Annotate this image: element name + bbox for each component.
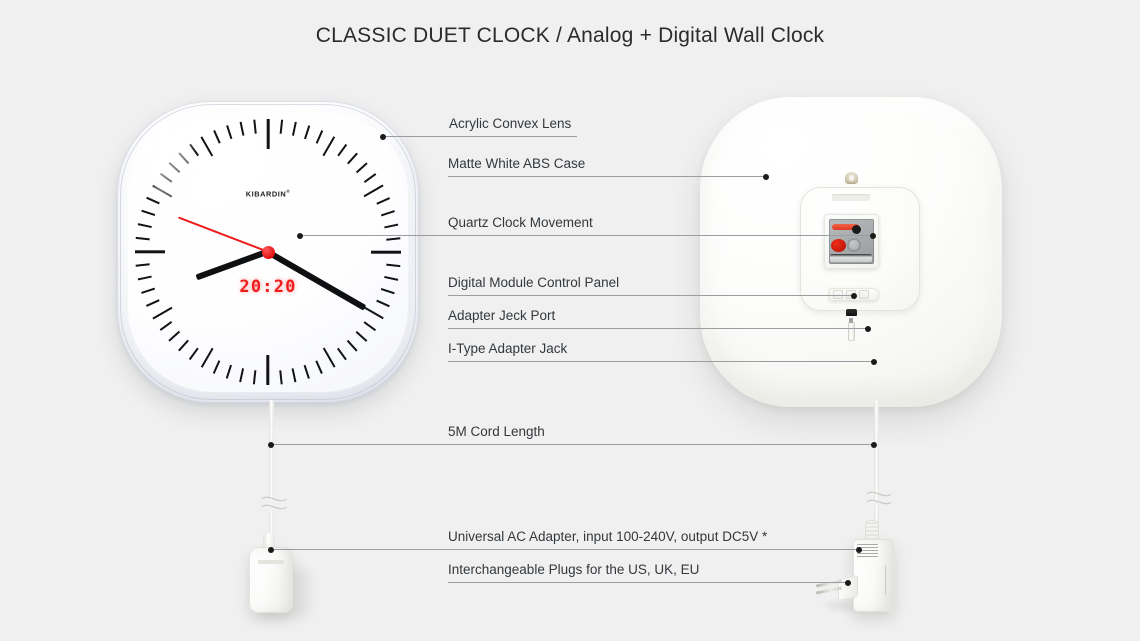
minute-tick — [169, 162, 180, 173]
power-brick — [249, 547, 293, 613]
callout-label: Quartz Clock Movement — [448, 215, 593, 230]
hour-tick — [371, 251, 401, 254]
minute-tick — [356, 331, 367, 342]
leader-dot-left — [268, 442, 274, 448]
minute-tick — [280, 370, 283, 384]
callout-i-type-adapter-jack: I-Type Adapter Jack — [448, 333, 874, 362]
leader-line — [300, 235, 873, 236]
leader-dot-right — [871, 442, 877, 448]
minute-tick — [337, 348, 347, 360]
hour-tick — [152, 306, 172, 319]
embossed-bar — [832, 194, 870, 201]
minute-tick — [141, 210, 155, 216]
hour-tick — [267, 119, 270, 149]
callout-adapter-jeck-port: Adapter Jeck Port — [448, 300, 868, 329]
back-cord-upper — [874, 400, 879, 500]
leader-line — [448, 361, 874, 362]
minute-tick — [292, 368, 296, 382]
minute-tick — [316, 360, 323, 373]
callout-label: Digital Module Control Panel — [448, 275, 619, 290]
leader-line — [448, 328, 868, 329]
control-button-3[interactable] — [859, 290, 869, 299]
minute-tick — [292, 122, 296, 136]
adapter-seam — [885, 565, 887, 595]
minute-tick — [169, 331, 180, 342]
callout-quartz-clock-movement: Quartz Clock Movement — [300, 207, 873, 236]
callout-label: Acrylic Convex Lens — [449, 116, 571, 131]
minute-tick — [240, 122, 244, 136]
leader-dot — [851, 293, 857, 299]
hour-hand — [196, 249, 269, 280]
leader-dot — [380, 134, 386, 140]
callout-acrylic-convex-lens: Acrylic Convex Lens — [383, 108, 577, 137]
hour-tick — [322, 348, 335, 368]
leader-dot-right — [856, 547, 862, 553]
brick-label — [258, 560, 284, 564]
minute-tick — [178, 153, 189, 164]
minute-tick — [136, 264, 150, 267]
minute-tick — [160, 173, 172, 183]
leader-dot-back — [870, 233, 876, 239]
hand-center-cap — [262, 246, 275, 259]
minute-tick — [280, 120, 283, 134]
leader-line — [448, 582, 848, 583]
clock-dial: KIBARDIN® 20:20 — [128, 112, 408, 392]
front-cord-upper — [269, 400, 274, 500]
minute-tick — [253, 370, 256, 384]
minute-tick — [226, 125, 232, 139]
minute-tick — [347, 153, 358, 164]
minute-tick — [253, 120, 256, 134]
leader-line — [448, 295, 854, 296]
minute-tick — [226, 365, 232, 379]
minute-tick — [138, 224, 152, 228]
leader-dot — [871, 359, 877, 365]
digital-time-display: 20:20 — [128, 277, 408, 297]
minute-tick — [337, 144, 347, 156]
leader-dot — [865, 326, 871, 332]
wall-hanger-hook — [845, 172, 858, 184]
minute-tick — [160, 321, 172, 331]
callout-universal-ac-adapter: Universal AC Adapter, input 100-240V, ou… — [271, 521, 859, 550]
minute-tick — [316, 130, 323, 143]
callout-digital-module-control-panel: Digital Module Control Panel — [448, 267, 854, 296]
callout-cord-length: 5M Cord Length — [271, 416, 874, 445]
hour-tick — [322, 136, 335, 156]
movement-red-seal — [831, 239, 846, 253]
second-hand — [178, 217, 268, 253]
callout-label: Adapter Jeck Port — [448, 308, 555, 323]
minute-tick — [304, 365, 310, 379]
minute-tick — [364, 173, 376, 183]
hour-tick — [200, 348, 213, 368]
callout-matte-white-abs-case: Matte White ABS Case — [448, 148, 766, 177]
hour-tick — [364, 306, 384, 319]
product-diagram: CLASSIC DUET CLOCK / Analog + Digital Wa… — [0, 0, 1140, 641]
hour-tick — [200, 136, 213, 156]
leader-line — [448, 176, 766, 177]
front-clock-view: KIBARDIN® 20:20 — [117, 101, 419, 403]
minute-tick — [347, 340, 358, 351]
minute-tick — [386, 237, 400, 240]
minute-tick — [356, 162, 367, 173]
minute-tick — [189, 144, 199, 156]
leader-dot — [845, 580, 851, 586]
minute-tick — [136, 237, 150, 240]
callout-label: Universal AC Adapter, input 100-240V, ou… — [448, 529, 767, 544]
minute-tick — [189, 348, 199, 360]
callout-interchangeable-plugs: Interchangeable Plugs for the US, UK, EU — [448, 554, 848, 583]
page-title: CLASSIC DUET CLOCK / Analog + Digital Wa… — [0, 24, 1140, 48]
callout-label: Matte White ABS Case — [448, 156, 585, 171]
leader-dot-front — [297, 233, 303, 239]
movement-base — [830, 254, 871, 262]
leader-dot-left — [268, 547, 274, 553]
minute-tick — [178, 340, 189, 351]
hour-tick — [267, 355, 270, 385]
leader-line — [271, 444, 874, 445]
minute-tick — [213, 130, 220, 143]
minute-tick — [304, 125, 310, 139]
minute-tick — [213, 360, 220, 373]
hour-tick — [135, 251, 165, 254]
leader-line — [383, 136, 577, 137]
callout-label: I-Type Adapter Jack — [448, 341, 567, 356]
minute-tick — [240, 368, 244, 382]
minute-tick — [386, 264, 400, 267]
leader-dot — [763, 174, 769, 180]
callout-label: 5M Cord Length — [448, 424, 545, 439]
minute-tick — [376, 300, 389, 307]
callout-label: Interchangeable Plugs for the US, UK, EU — [448, 562, 699, 577]
leader-line — [271, 549, 859, 550]
minute-tick — [146, 300, 159, 307]
brand-logo: KIBARDIN® — [128, 189, 408, 198]
movement-gear — [847, 238, 861, 252]
minute-tick — [364, 321, 376, 331]
